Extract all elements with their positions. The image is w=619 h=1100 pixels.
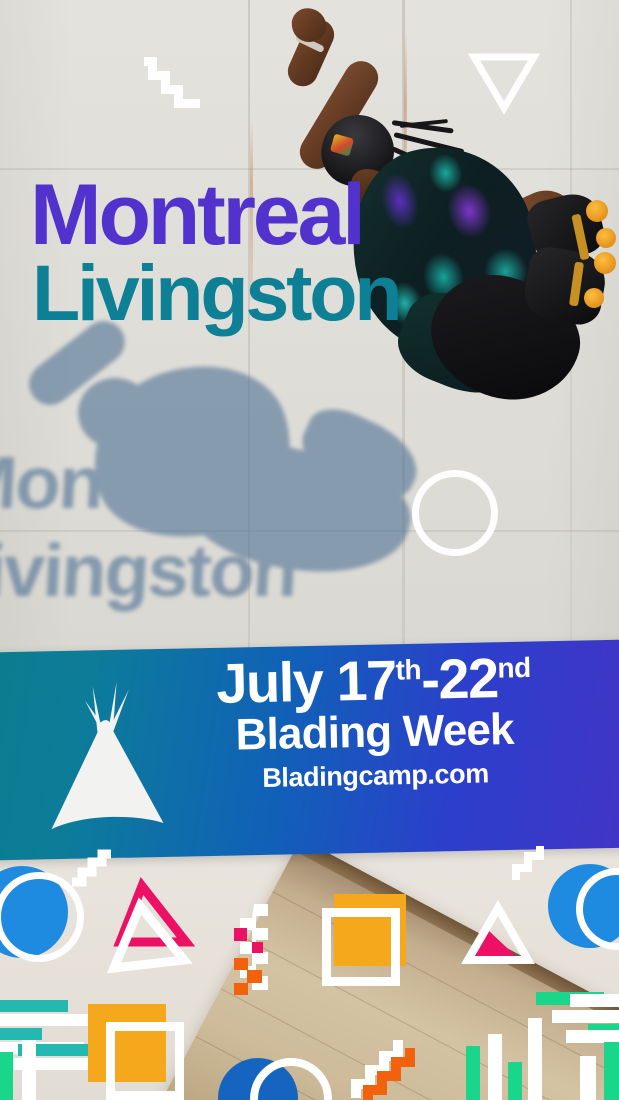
pink-triangle-filled-icon (462, 902, 534, 966)
zigzag-staircase-icon (510, 848, 552, 882)
banner-date-ordinal-2: nd (497, 652, 531, 684)
poster-headline: Montreal Livingston (30, 178, 399, 327)
banner-text-block: July 17th-22nd Blading Week Bladingcamp.… (138, 648, 611, 797)
banner-url[interactable]: Bladingcamp.com (140, 756, 611, 796)
banner-date-line: July 17th-22nd (138, 648, 609, 713)
white-square-outline (322, 908, 400, 986)
skate-wheel (596, 228, 616, 248)
poster-canvas: Montreal Livingston (0, 0, 619, 1100)
white-bar-vertical (488, 1034, 502, 1100)
banner-date-mid: -22 (421, 646, 499, 711)
white-square-outline (106, 1022, 184, 1100)
skate-wheel (594, 252, 616, 274)
teal-bar (0, 1000, 68, 1012)
zigzag-staircase-icon (140, 55, 208, 113)
circle-outline-icon (412, 470, 498, 556)
white-bar-vertical (580, 1056, 596, 1100)
skate-wheel (584, 288, 604, 308)
white-bar (570, 994, 619, 1007)
zigzag-staircase-icon (70, 852, 114, 886)
zigzag-staircase-icon (352, 1028, 412, 1100)
event-banner[interactable]: July 17th-22nd Blading Week Bladingcamp.… (0, 640, 619, 861)
green-bar-vertical (508, 1062, 522, 1100)
banner-date-prefix: July 17 (216, 648, 397, 715)
headline-line-1: Montreal (30, 178, 399, 254)
zigzag-lightning-icon (228, 902, 272, 1012)
teal-bar (0, 1028, 42, 1040)
banner-event-name: Blading Week (139, 705, 610, 761)
skate-wheel (586, 200, 608, 222)
banner-date-ordinal-1: th (395, 654, 421, 686)
green-bar-vertical (466, 1046, 480, 1100)
triangle-down-outline-icon (472, 54, 536, 110)
white-bar-vertical (22, 1040, 36, 1100)
white-triangle-outline-icon (106, 898, 190, 976)
green-bar-vertical (604, 1042, 619, 1100)
white-bar (552, 1010, 619, 1023)
green-bar-vertical (0, 1052, 13, 1100)
white-bar-vertical (528, 1018, 542, 1100)
headline-line-2: Livingston (32, 258, 399, 328)
